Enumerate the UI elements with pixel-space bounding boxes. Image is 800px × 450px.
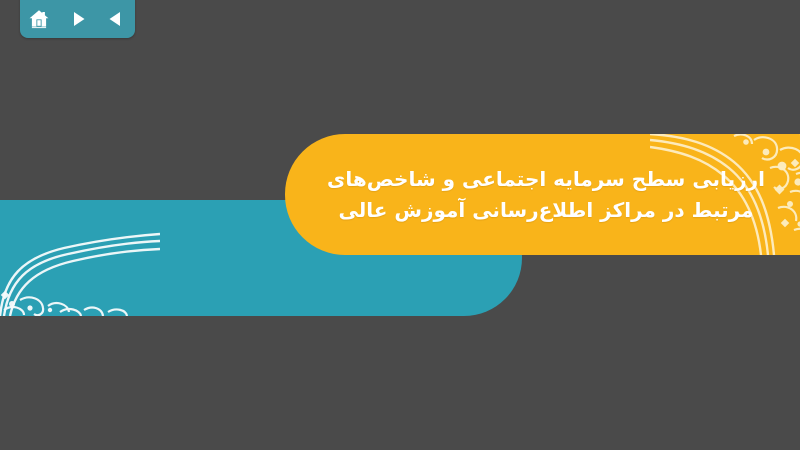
left-triangle-icon [106,9,126,29]
next-slide-button[interactable] [65,6,91,32]
right-triangle-icon [68,9,88,29]
home-icon [28,8,50,30]
title-banner: ارزیابی سطح سرمایه اجتماعی و شاخص‌های مر… [285,134,800,255]
slide-canvas: ارزیابی سطح سرمایه اجتماعی و شاخص‌های مر… [0,0,800,450]
previous-slide-button[interactable] [103,6,129,32]
slide-navigation-toolbar [20,0,135,38]
home-button[interactable] [26,6,52,32]
slide-title: ارزیابی سطح سرمایه اجتماعی و شاخص‌های مر… [285,164,800,226]
title-line-1: ارزیابی سطح سرمایه اجتماعی و شاخص‌های [295,164,797,195]
arabesque-corner-ornament [0,200,160,316]
title-line-2: مرتبط در مراکز اطلاع‌رسانی آموزش عالی [295,195,797,226]
